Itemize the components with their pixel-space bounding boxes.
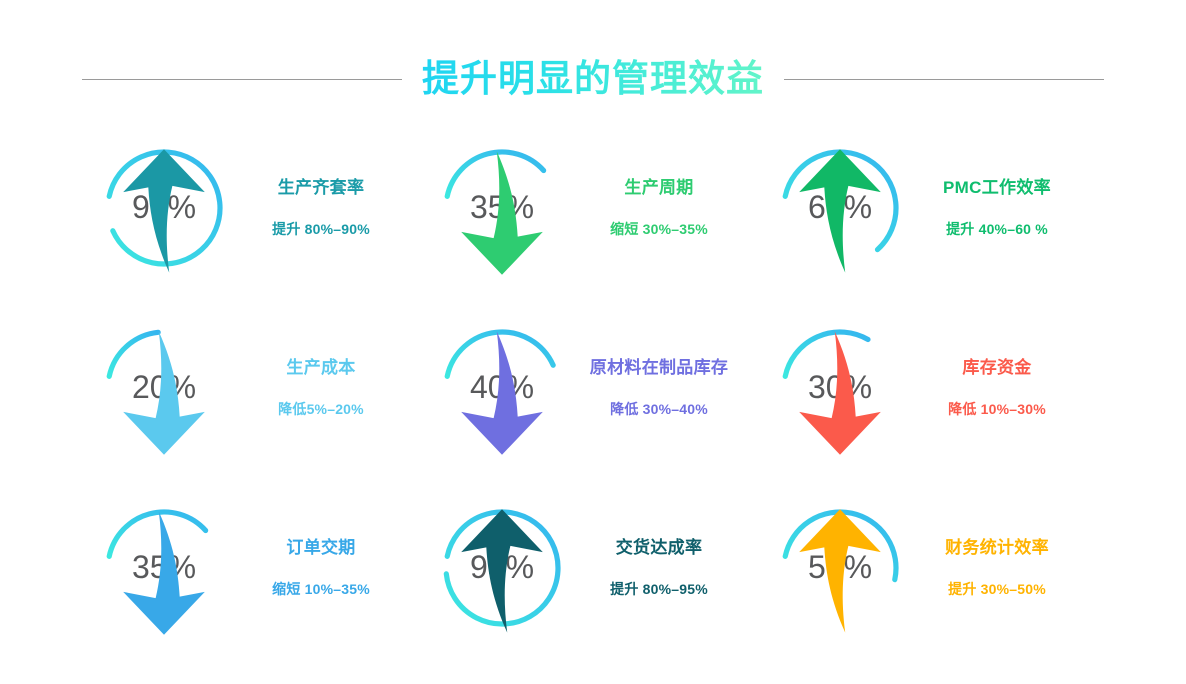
metric-text: PMC工作效率提升 40%–60 %: [922, 178, 1072, 237]
metric-title: 原材料在制品库存: [590, 358, 728, 378]
progress-ring: 30%: [772, 320, 908, 456]
metric-title: 生产成本: [286, 358, 355, 378]
header-rule-right: [784, 79, 1104, 80]
progress-ring: 40%: [434, 320, 570, 456]
metric-subtitle: 提升 80%–95%: [610, 581, 708, 598]
metric-subtitle: 降低 10%–30%: [948, 401, 1046, 418]
arrow-down-icon: [96, 324, 232, 460]
gauge-center: 50%: [772, 500, 908, 636]
arrow-up-icon: [772, 144, 908, 280]
metric-title: 订单交期: [286, 538, 355, 558]
metric-subtitle: 提升 30%–50%: [948, 581, 1046, 598]
progress-ring: 35%: [96, 500, 232, 636]
metric-text: 生产周期缩短 30%–35%: [584, 178, 734, 237]
arrow-down-icon: [434, 144, 570, 280]
gauge-center: 30%: [772, 320, 908, 456]
metric-text: 生产成本降低5%–20%: [246, 358, 396, 417]
metric-title: 生产齐套率: [278, 178, 365, 198]
gauge-center: 90%: [96, 140, 232, 276]
metric-card: 40%原材料在制品库存降低 30%–40%: [434, 298, 758, 478]
progress-ring: 60%: [772, 140, 908, 276]
metric-card: 95%交货达成率提升 80%–95%: [434, 478, 758, 658]
metric-title: 生产周期: [624, 178, 693, 198]
metric-subtitle: 降低 30%–40%: [610, 401, 708, 418]
page-header: 提升明显的管理效益: [0, 52, 1186, 106]
arrow-up-icon: [434, 504, 570, 640]
gauge-center: 95%: [434, 500, 570, 636]
arrow-up-icon: [96, 144, 232, 280]
metric-card: 30%库存资金降低 10%–30%: [772, 298, 1096, 478]
metric-card: 35%订单交期缩短 10%–35%: [96, 478, 420, 658]
arrow-up-icon: [772, 504, 908, 640]
metric-text: 交货达成率提升 80%–95%: [584, 538, 734, 597]
metric-text: 订单交期缩短 10%–35%: [246, 538, 396, 597]
header-rule-left: [82, 79, 402, 80]
arrow-down-icon: [772, 324, 908, 460]
metric-subtitle: 缩短 10%–35%: [272, 581, 370, 598]
metric-text: 原材料在制品库存降低 30%–40%: [584, 358, 734, 417]
slide-root: 提升明显的管理效益 90%生产齐套率提升 80%–90%35%生产周期缩短 30…: [0, 0, 1186, 684]
metric-subtitle: 提升 40%–60 %: [946, 221, 1048, 238]
progress-ring: 90%: [96, 140, 232, 276]
metric-card: 90%生产齐套率提升 80%–90%: [96, 118, 420, 298]
metric-card: 35%生产周期缩短 30%–35%: [434, 118, 758, 298]
gauge-center: 40%: [434, 320, 570, 456]
metric-title: 交货达成率: [616, 538, 703, 558]
metric-card: 20%生产成本降低5%–20%: [96, 298, 420, 478]
metric-card: 50%财务统计效率提升 30%–50%: [772, 478, 1096, 658]
gauge-center: 20%: [96, 320, 232, 456]
progress-ring: 20%: [96, 320, 232, 456]
metric-subtitle: 降低5%–20%: [278, 401, 364, 418]
metric-text: 库存资金降低 10%–30%: [922, 358, 1072, 417]
progress-ring: 95%: [434, 500, 570, 636]
metric-text: 生产齐套率提升 80%–90%: [246, 178, 396, 237]
arrow-down-icon: [434, 324, 570, 460]
metric-card: 60%PMC工作效率提升 40%–60 %: [772, 118, 1096, 298]
metric-subtitle: 提升 80%–90%: [272, 221, 370, 238]
metric-title: PMC工作效率: [943, 178, 1051, 198]
gauge-center: 35%: [434, 140, 570, 276]
metric-title: 库存资金: [962, 358, 1031, 378]
progress-ring: 50%: [772, 500, 908, 636]
arrow-down-icon: [96, 504, 232, 640]
metric-text: 财务统计效率提升 30%–50%: [922, 538, 1072, 597]
gauge-center: 60%: [772, 140, 908, 276]
gauge-center: 35%: [96, 500, 232, 636]
metric-subtitle: 缩短 30%–35%: [610, 221, 708, 238]
page-title: 提升明显的管理效益: [418, 59, 768, 100]
metric-title: 财务统计效率: [945, 538, 1049, 558]
metric-grid: 90%生产齐套率提升 80%–90%35%生产周期缩短 30%–35%60%PM…: [96, 118, 1096, 658]
progress-ring: 35%: [434, 140, 570, 276]
